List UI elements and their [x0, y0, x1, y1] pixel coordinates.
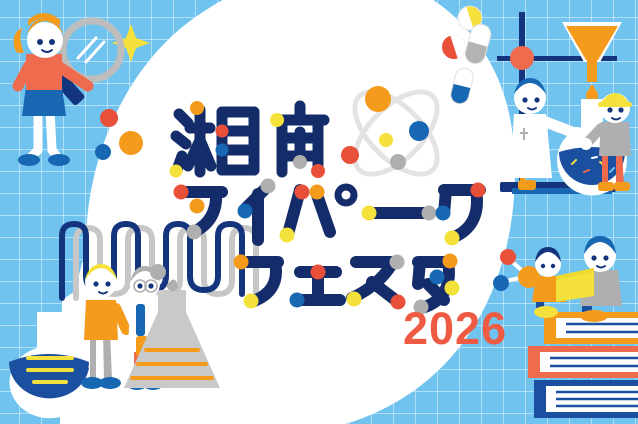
book-stack: [528, 312, 638, 418]
artwork-svg: 2026: [0, 0, 638, 424]
two-readers-on-books: [532, 236, 622, 322]
lab-stand-funnel-flask: [497, 12, 632, 194]
year-text: 2026: [403, 303, 507, 354]
poster-keyvisual: 2026 湘南 アイパーク フェスタ 湘南アイパークフェスタ 2026 キービジ…: [0, 0, 638, 424]
